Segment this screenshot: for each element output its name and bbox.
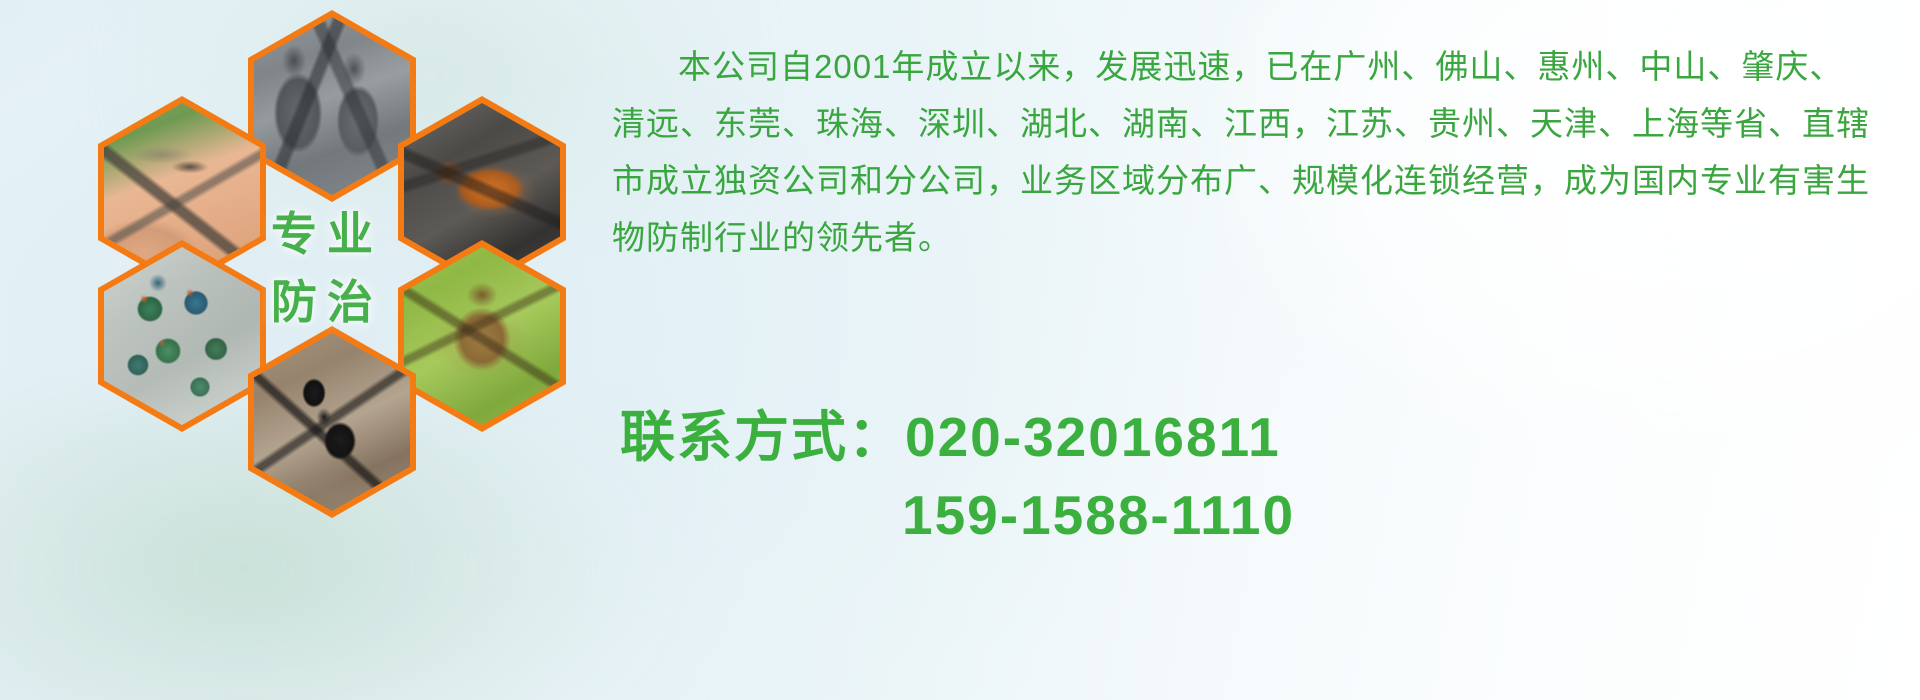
company-description: 本公司自2001年成立以来，发展迅速，已在广州、佛山、惠州、中山、肇庆、清远、东…: [612, 38, 1872, 266]
hex-photo-flies-frame: [104, 247, 260, 425]
slogan-overlay: 专业 防治: [252, 200, 402, 336]
slogan-line-1: 专业: [252, 200, 402, 268]
stink-bug-image: [404, 247, 560, 425]
hex-photo-stink-bug: [398, 240, 566, 432]
rat-image: [254, 17, 410, 195]
company-description-text: 本公司自2001年成立以来，发展迅速，已在广州、佛山、惠州、中山、肇庆、清远、东…: [612, 38, 1872, 266]
flies-image: [104, 247, 260, 425]
hex-photo-ant: [248, 326, 416, 518]
hex-photo-stink-bug-frame: [404, 247, 560, 425]
hex-photo-ant-frame: [254, 333, 410, 511]
hex-photo-flies: [98, 240, 266, 432]
hex-photo-rat-frame: [254, 17, 410, 195]
contact-secondary-phone: 159-1588-1110: [620, 476, 1820, 554]
ant-image: [254, 333, 410, 511]
promo-banner: 专业 防治 本公司自2001年成立以来，发展迅速，已在广州、佛山、惠州、中山、肇…: [0, 0, 1920, 700]
hex-photo-rat: [248, 10, 416, 202]
contact-block: 联系方式：020-32016811 159-1588-1110: [620, 398, 1820, 554]
contact-primary-phone: 联系方式：020-32016811: [620, 398, 1820, 476]
slogan-line-2: 防治: [252, 268, 402, 336]
